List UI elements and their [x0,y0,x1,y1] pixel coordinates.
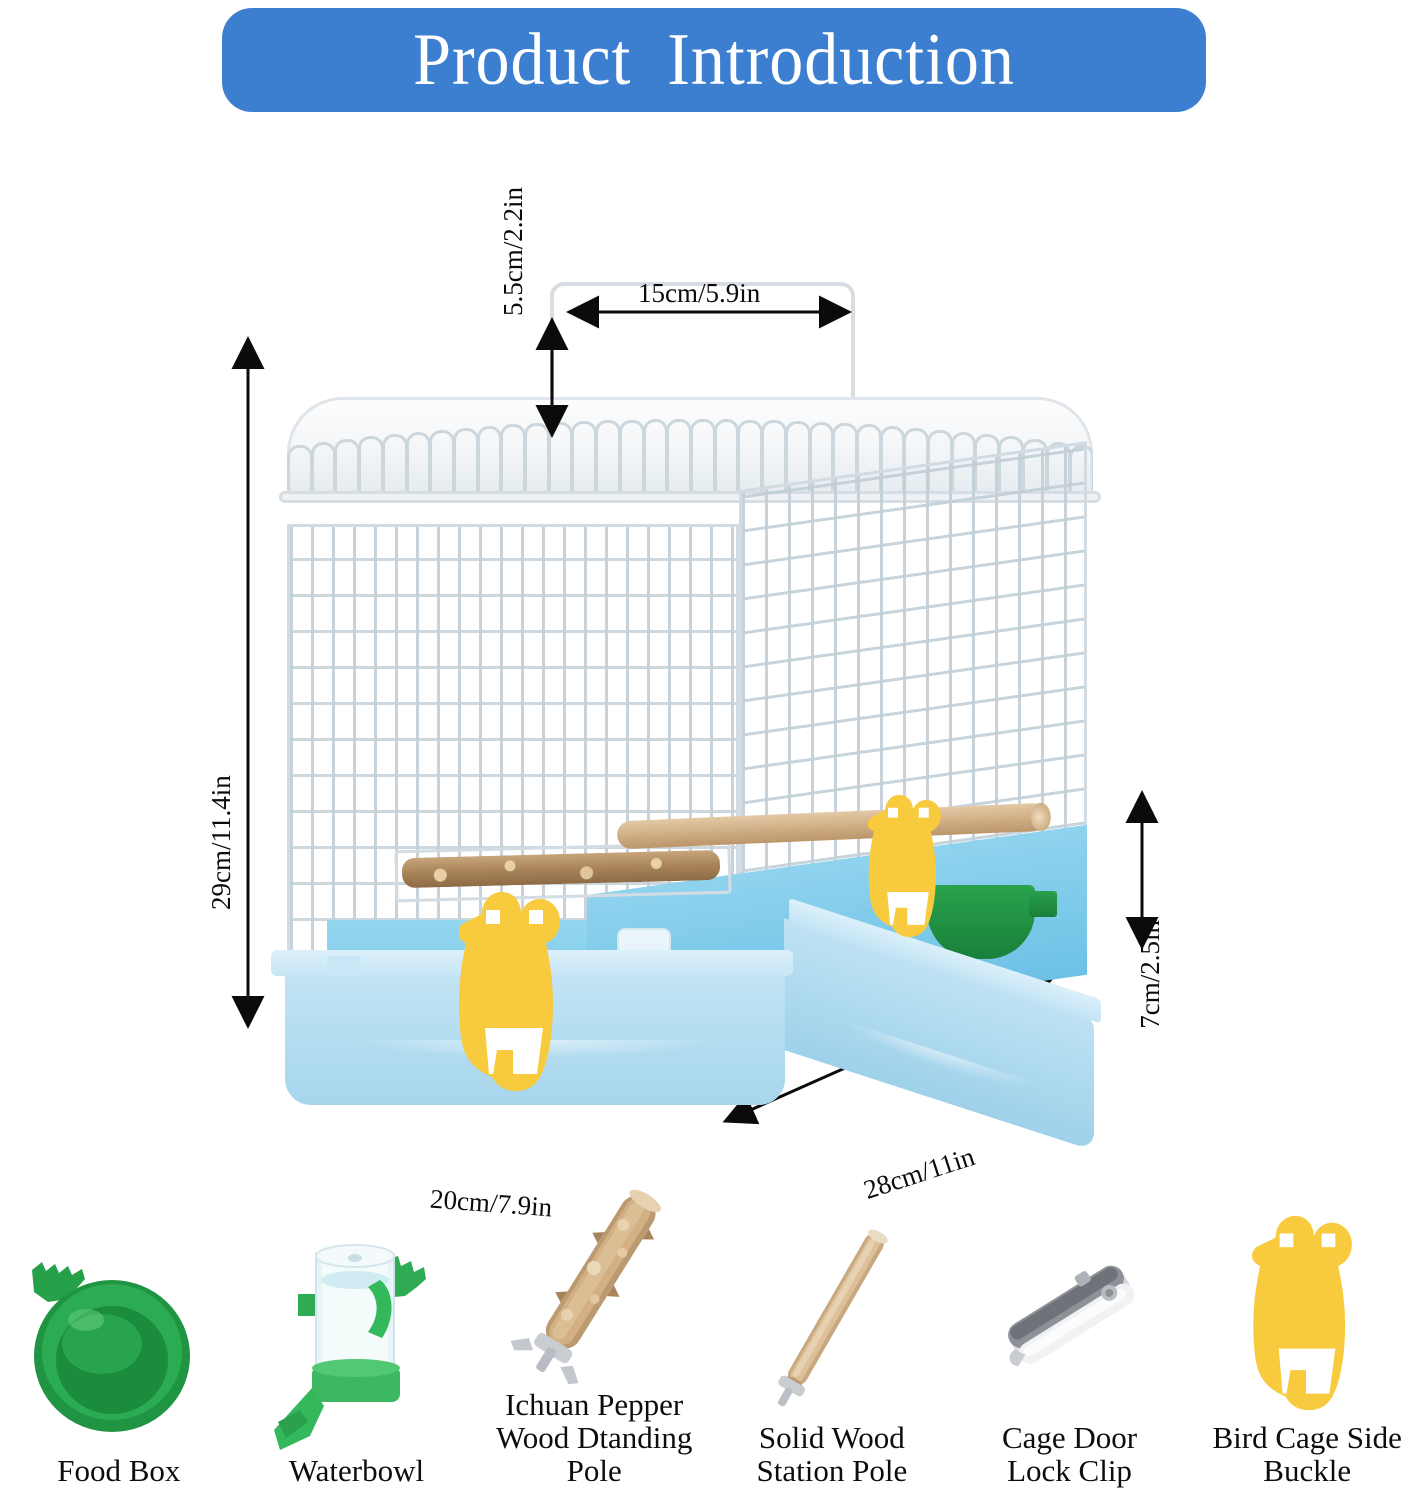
cage-arch-bar [595,420,621,501]
accessory-label-side-buckle: Bird Cage Side Buckle [1212,1422,1401,1500]
accessory-label-waterbowl: Waterbowl [289,1455,424,1500]
bear-buckle-icon [865,792,951,942]
accessory-label-solid-wood-pole: Solid Wood Station Pole [757,1422,908,1500]
header-banner: Product Introduction [222,8,1206,112]
side-buckle-art [1188,1207,1426,1422]
page-title: Product Introduction [413,23,1015,97]
food-box-art [0,1240,238,1455]
product-illustration: 15cm/5.9in 5.5cm/2.2in 29cm/11.4in 7cm/2… [0,120,1426,1180]
side-buckle-on-side [865,792,951,942]
door-lock-clip-art [951,1207,1189,1422]
accessory-waterbowl: Waterbowl [238,1185,476,1500]
dimension-handle-height: 5.5cm/2.2in [498,187,529,316]
bird-cage-figure [265,200,1105,1130]
accessory-label-pepper-wood-pole: Ichuan Pepper Wood Dtanding Pole [475,1389,713,1500]
cage-arch-bar [571,421,597,501]
cage-arch-bar [643,419,669,501]
cage-arch-bar [619,420,645,501]
dimension-tray-height: 7cm/2.5in [1135,920,1166,1029]
accessory-solid-wood-pole: Solid Wood Station Pole [713,1185,951,1500]
cage-arch-bar [714,419,740,501]
accessory-label-door-lock-clip: Cage Door Lock Clip [1002,1422,1137,1500]
accessory-list: Food Box Waterbowl [0,1185,1426,1500]
cage-arch-bar [666,419,692,501]
bear-buckle-icon [1232,1212,1382,1417]
tray-latch-tab [327,956,361,970]
accessory-pepper-wood-pole: Ichuan Pepper Wood Dtanding Pole [475,1185,713,1500]
bear-buckle-icon [459,888,569,1098]
accessory-label-food-box: Food Box [57,1455,180,1500]
waterbowl-art [238,1240,476,1455]
accessory-side-buckle: Bird Cage Side Buckle [1188,1185,1426,1500]
dowel-perch-icon [737,1207,927,1422]
metal-clip-icon [975,1215,1165,1415]
cage-arch-bar [690,419,716,501]
solid-wood-pole-art [713,1207,951,1422]
branch-perch-icon [499,1174,689,1389]
dimension-cage-height: 29cm/11.4in [206,775,237,910]
accessory-food-box: Food Box [0,1185,238,1500]
cage-base-tray [265,890,1105,1130]
accessory-door-lock-clip: Cage Door Lock Clip [951,1185,1189,1500]
dimension-handle-width: 15cm/5.9in [638,278,760,309]
water-bottle-icon [262,1240,452,1455]
green-bowl-icon [24,1248,214,1448]
pepper-wood-pole-art [475,1174,713,1389]
side-buckle-on-front [459,888,569,1098]
